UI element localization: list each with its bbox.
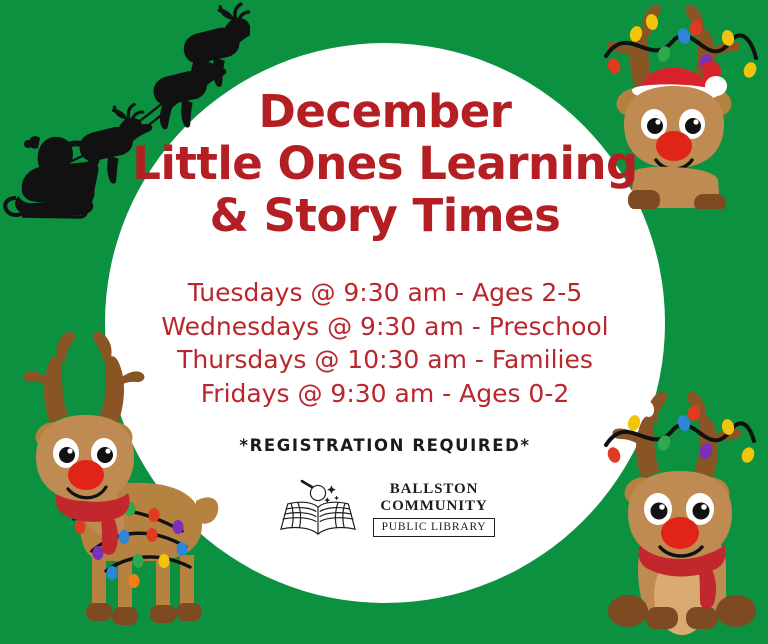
schedule-line-thursday: Thursdays @ 10:30 am - Families xyxy=(120,343,650,377)
library-logo: BALLSTON COMMUNITY PUBLIC LIBRARY xyxy=(120,477,650,541)
logo-line-ballston: BALLSTON xyxy=(390,481,479,498)
logo-line-community: COMMUNITY xyxy=(380,498,487,515)
title-line-3: & Story Times xyxy=(120,190,650,242)
schedule-list: Tuesdays @ 9:30 am - Ages 2-5 Wednesdays… xyxy=(120,276,650,410)
schedule-line-wednesday: Wednesdays @ 9:30 am - Preschool xyxy=(120,310,650,344)
title-line-1: December xyxy=(120,86,650,138)
open-book-magnifier-icon xyxy=(275,477,361,541)
schedule-line-friday: Fridays @ 9:30 am - Ages 0-2 xyxy=(120,377,650,411)
schedule-line-tuesday: Tuesdays @ 9:30 am - Ages 2-5 xyxy=(120,276,650,310)
holiday-storytime-flyer: December Little Ones Learning & Story Ti… xyxy=(0,0,768,644)
logo-public-library-box: PUBLIC LIBRARY xyxy=(373,518,496,537)
page-title: December Little Ones Learning & Story Ti… xyxy=(120,86,650,242)
registration-required-note: *REGISTRATION REQUIRED* xyxy=(120,436,650,455)
title-line-2: Little Ones Learning xyxy=(120,138,650,190)
flyer-content: December Little Ones Learning & Story Ti… xyxy=(120,86,650,541)
library-logo-text: BALLSTON COMMUNITY PUBLIC LIBRARY xyxy=(373,481,496,537)
